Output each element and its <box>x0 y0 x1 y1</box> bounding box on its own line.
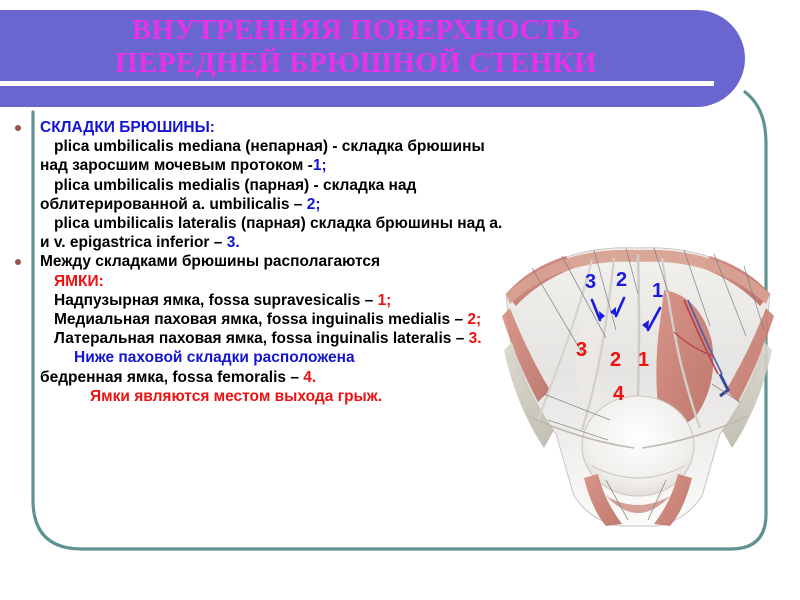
fossae-heading: ЯМКИ: <box>40 272 510 291</box>
folds-item-3-number: 3. <box>227 234 240 251</box>
fossae-item-1: Надпузырная ямка, fossa supravesicalis –… <box>40 291 510 310</box>
fossae-item-2-text: Медиальная паховая ямка, fossa inguinali… <box>54 311 467 328</box>
anatomy-label-red-2: 2 <box>610 350 621 370</box>
fossae-item-1-text: Надпузырная ямка, fossa supravesicalis – <box>54 292 378 309</box>
fossae-item-3-number: 3. <box>469 330 482 347</box>
folds-item-1-text: plica umbilicalis mediana (непарная) - с… <box>40 138 485 174</box>
folds-item-2-text: plica umbilicalis medialis (парная) - ск… <box>40 177 416 213</box>
femoral-tail-text: бедренная ямка, fossa femoralis – <box>40 369 303 386</box>
folds-item-3-text: plica umbilicalis lateralis (парная) скл… <box>40 215 502 251</box>
femoral-lead: Ниже паховой складки расположена <box>40 348 510 367</box>
bullet-dot-icon <box>15 125 21 131</box>
slide-canvas: ВНУТРЕННЯЯ ПОВЕРХНОСТЬ ПЕРЕДНЕЙ БРЮШНОЙ … <box>0 0 800 600</box>
anatomy-illustration: 3 2 1 3 2 1 4 <box>488 234 788 530</box>
fossae-item-3-text: Латеральная паховая ямка, fossa inguinal… <box>54 330 469 347</box>
femoral-tail-number: 4. <box>303 369 316 386</box>
folds-item-1: plica umbilicalis mediana (непарная) - с… <box>40 137 510 175</box>
page-title: ВНУТРЕННЯЯ ПОВЕРХНОСТЬ ПЕРЕДНЕЙ БРЮШНОЙ … <box>0 14 712 80</box>
fossae-item-3: Латеральная паховая ямка, fossa inguinal… <box>40 329 510 348</box>
folds-item-2: plica umbilicalis medialis (парная) - ск… <box>40 176 510 214</box>
fossae-item-1-number: 1; <box>378 292 392 309</box>
slide-body: СКЛАДКИ БРЮШИНЫ: plica umbilicalis media… <box>40 118 510 406</box>
banner-stripe <box>0 81 714 86</box>
anatomy-label-red-1: 1 <box>638 350 649 370</box>
bullet-block-folds: СКЛАДКИ БРЮШИНЫ: plica umbilicalis media… <box>40 118 510 252</box>
folds-heading: СКЛАДКИ БРЮШИНЫ: <box>40 118 510 137</box>
femoral-tail: бедренная ямка, fossa femoralis – 4. <box>40 368 510 387</box>
closing-note: Ямки являются местом выхода грыж. <box>40 387 510 406</box>
folds-item-3: plica umbilicalis lateralis (парная) скл… <box>40 214 510 252</box>
title-line-2: ПЕРЕДНЕЙ БРЮШНОЙ СТЕНКИ <box>0 47 712 80</box>
anatomy-label-red-3: 3 <box>576 340 587 360</box>
anatomy-label-blue-3: 3 <box>585 272 596 292</box>
fossae-lead: Между складками брюшины располагаются <box>40 252 510 271</box>
bullet-dot-icon <box>15 259 21 265</box>
anatomy-label-blue-2: 2 <box>616 270 627 290</box>
folds-item-1-number: 1; <box>313 157 327 174</box>
title-line-1: ВНУТРЕННЯЯ ПОВЕРХНОСТЬ <box>0 14 712 47</box>
fossae-item-2: Медиальная паховая ямка, fossa inguinali… <box>40 310 510 329</box>
anatomy-label-red-4: 4 <box>613 384 624 404</box>
folds-item-2-number: 2; <box>307 196 321 213</box>
anatomy-drawing <box>488 234 788 530</box>
block-femoral: Ниже паховой складки расположена бедренн… <box>40 348 510 406</box>
anatomy-label-blue-1: 1 <box>652 281 663 301</box>
fossae-item-2-number: 2; <box>467 311 481 328</box>
bullet-block-fossae: Между складками брюшины располагаются ЯМ… <box>40 252 510 348</box>
